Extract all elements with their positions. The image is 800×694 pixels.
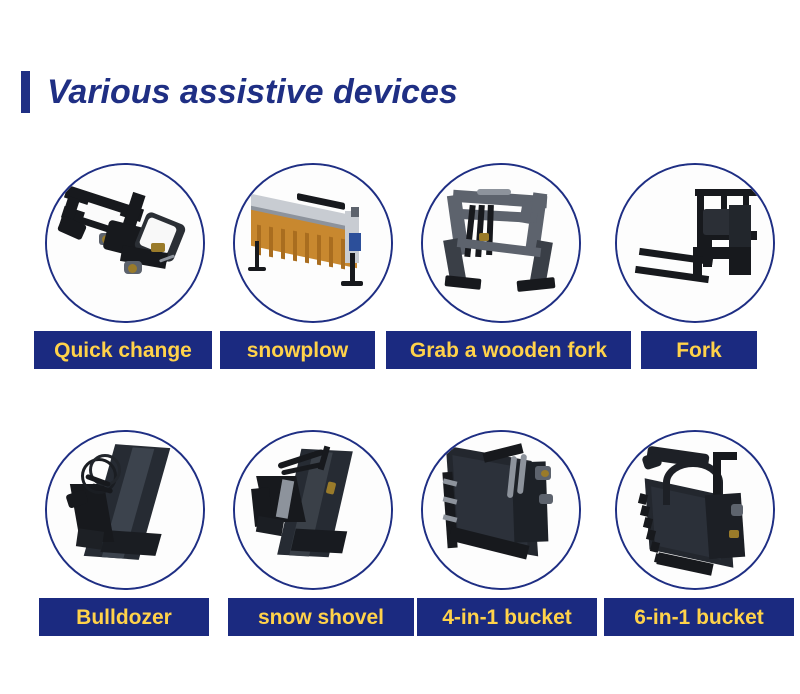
attachment-grid: Quick change: [0, 0, 800, 694]
six-in-one-bucket-photo: [617, 432, 773, 588]
label-text-quick-change: Quick change: [54, 340, 192, 361]
label-text-snow-shovel: snow shovel: [258, 607, 384, 628]
label-bar-bulldozer[interactable]: Bulldozer: [39, 598, 209, 636]
label-text-grab-wooden-fork: Grab a wooden fork: [410, 340, 607, 361]
label-text-bulldozer: Bulldozer: [76, 607, 172, 628]
image-circle-grab-wooden-fork: [421, 163, 581, 323]
image-circle-snow-shovel: [233, 430, 393, 590]
label-text-snowplow: snowplow: [247, 340, 349, 361]
pallet-fork-photo: [617, 165, 773, 321]
image-circle-4-in-1-bucket: [421, 430, 581, 590]
image-circle-bulldozer: [45, 430, 205, 590]
image-circle-fork: [615, 163, 775, 323]
dozer-blade-photo: [47, 432, 203, 588]
label-bar-6-in-1-bucket[interactable]: 6-in-1 bucket: [604, 598, 794, 636]
image-circle-quick-change: [45, 163, 205, 323]
snow-shovel-blade-photo: [235, 432, 391, 588]
image-circle-6-in-1-bucket: [615, 430, 775, 590]
label-text-6-in-1-bucket: 6-in-1 bucket: [634, 607, 764, 628]
log-grapple-fork-photo: [423, 165, 579, 321]
product-showcase-page: Various assistive devices: [0, 0, 800, 694]
label-bar-fork[interactable]: Fork: [641, 331, 757, 369]
four-in-one-bucket-photo: [423, 432, 579, 588]
label-bar-quick-change[interactable]: Quick change: [34, 331, 212, 369]
label-bar-grab-wooden-fork[interactable]: Grab a wooden fork: [386, 331, 631, 369]
label-bar-snowplow[interactable]: snowplow: [220, 331, 375, 369]
label-bar-snow-shovel[interactable]: snow shovel: [228, 598, 414, 636]
image-circle-snowplow: [233, 163, 393, 323]
quick-change-attachment-photo: [47, 165, 203, 321]
snowplow-brush-photo: [235, 165, 391, 321]
label-bar-4-in-1-bucket[interactable]: 4-in-1 bucket: [417, 598, 597, 636]
label-text-4-in-1-bucket: 4-in-1 bucket: [442, 607, 572, 628]
label-text-fork: Fork: [676, 340, 722, 361]
